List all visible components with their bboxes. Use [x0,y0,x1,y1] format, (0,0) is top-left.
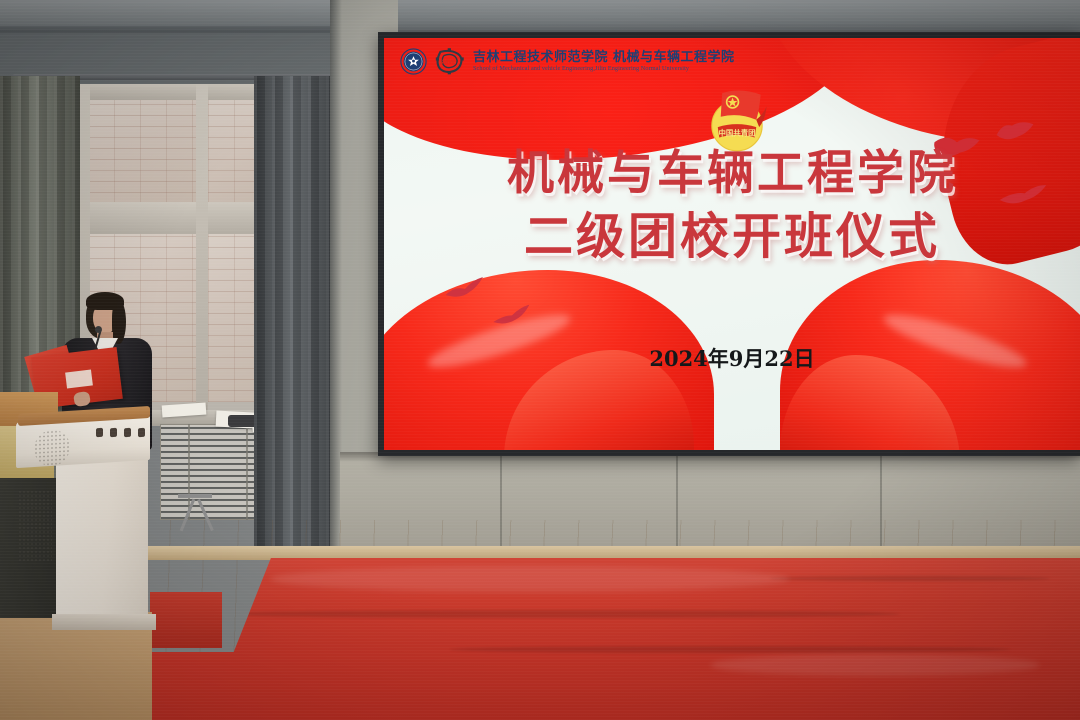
speaker-hair-side [112,300,126,344]
brick-facade [88,100,196,204]
lectern-body [56,452,148,624]
stand-crossbar [178,494,212,498]
window-pane [88,100,196,204]
red-carpet [150,558,1080,720]
smve-gear-logo-icon: SMVE [434,48,466,75]
communist-youth-league-emblem-icon: 中国共青团 [700,84,774,154]
emblem-flag-text: 中国共青团 [719,128,756,137]
institution-name-en: School of Mechanical and vehicle Enginee… [473,66,735,73]
lectern-speaker-grille-lower [18,490,52,562]
slide-title-line-1: 机械与车辆工程学院 [384,150,1080,198]
slide-title-line-2: 二级团校开班仪式 [384,212,1080,262]
lectern-base [52,614,156,630]
slide-date: 2024年9月22日 [384,343,1080,373]
carpet-step [150,592,222,648]
dove-icon [992,118,1038,152]
lectern-control-knob[interactable] [124,428,131,437]
institution-name-cn: 吉林工程技术师范学院 机械与车辆工程学院 [473,51,735,65]
lectern-control-knob[interactable] [96,428,103,437]
curtain-right[interactable] [254,76,338,546]
lectern-control-knob[interactable] [138,428,145,437]
slide-header: SMVE 吉林工程技术师范学院 机械与车辆工程学院 School of Mech… [400,48,735,75]
lectern-control-knob[interactable] [110,428,117,437]
folder-label [65,369,93,388]
window-mullion [196,84,208,414]
carpet-highlight [710,654,1040,676]
led-screen[interactable]: SMVE 吉林工程技术师范学院 机械与车辆工程学院 School of Mech… [384,38,1080,450]
carpet-highlight [270,566,790,592]
dove-icon [492,300,532,328]
svg-text:SMVE: SMVE [439,60,456,66]
microphone-head [95,326,102,333]
photo-scene: SMVE 吉林工程技术师范学院 机械与车辆工程学院 School of Mech… [0,0,1080,720]
slide-header-text: 吉林工程技术师范学院 机械与车辆工程学院 School of Mechanica… [473,51,735,72]
carpet-fold [450,646,1010,653]
carpet-fold [770,576,1050,581]
university-seal-icon [400,48,427,75]
stage-edge [0,546,1080,560]
dove-icon [442,274,488,304]
carpet-fold [220,610,900,618]
radiator-divider [246,424,248,520]
slide-title: 机械与车辆工程学院 二级团校开班仪式 [384,150,1080,262]
ceiling-edge [0,26,360,33]
